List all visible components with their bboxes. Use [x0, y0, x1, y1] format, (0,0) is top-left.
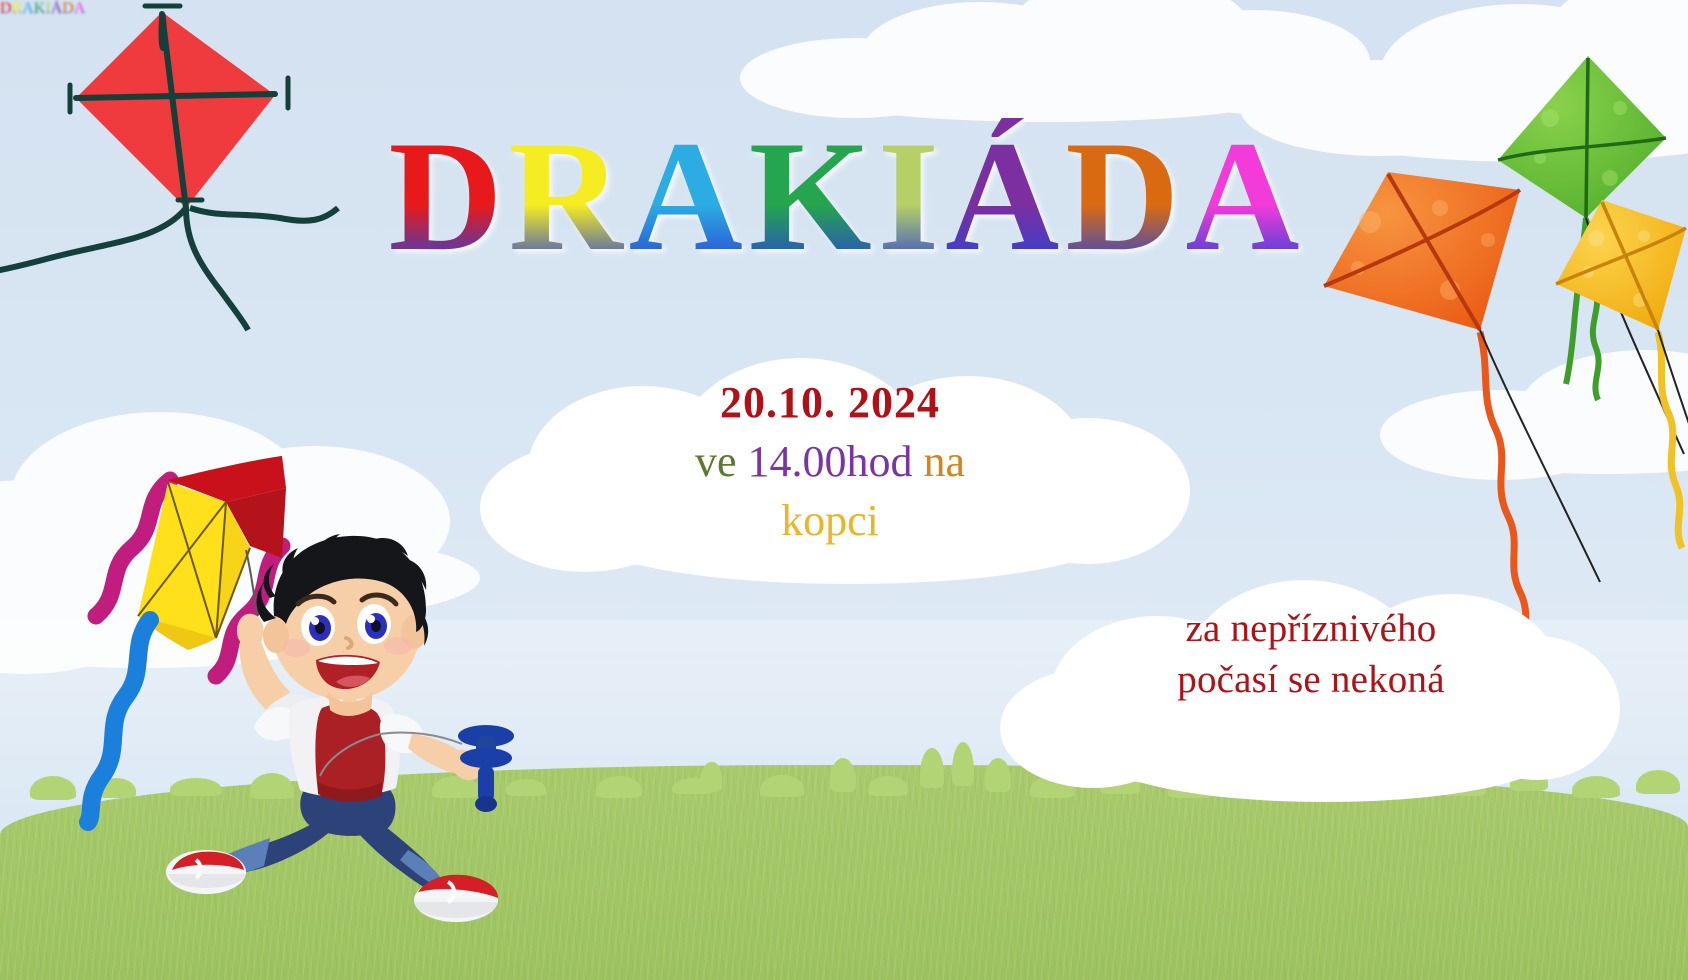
red-diamond-kite [0, 0, 320, 330]
boy-flying-kite [150, 520, 530, 940]
event-time-value: 14.00hod [748, 437, 913, 486]
event-time-line: ve 14.00hod na [500, 433, 1160, 492]
yellow-kite [1552, 168, 1688, 618]
warning-line-1: za nepříznivého [1026, 604, 1596, 655]
warning-line-2: počasí se nekoná [1026, 655, 1596, 706]
event-date: 20.10. 2024 [500, 374, 1160, 433]
event-place-text: kopci [781, 496, 879, 545]
event-place-prefix: na [924, 437, 966, 486]
drakiada-poster: DRAKIÁDA DRAKIÁDA [0, 0, 1688, 980]
warning-cloud-text: za nepříznivého počasí se nekoná [1026, 604, 1596, 705]
info-cloud-text: 20.10. 2024 ve 14.00hod na kopci [500, 374, 1160, 551]
event-place-line: kopci [500, 492, 1160, 551]
event-time-prefix: ve [695, 437, 737, 486]
event-date-text: 20.10. 2024 [720, 378, 940, 427]
